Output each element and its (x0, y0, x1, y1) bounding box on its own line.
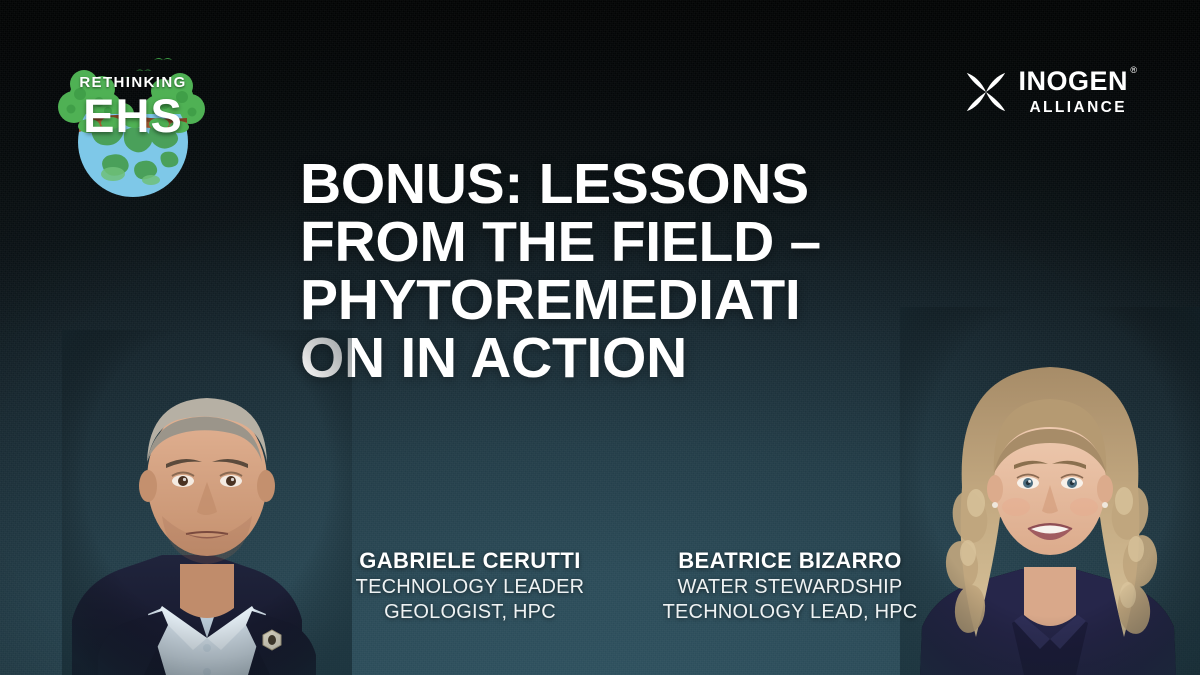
portrait-gabriele-cerutti (62, 330, 352, 675)
speaker-role-line-2: GEOLOGIST, HPC (330, 600, 610, 625)
speaker-role-line-1: TECHNOLOGY LEADER (330, 575, 610, 600)
title-line-1: BONUS: LESSONS (300, 155, 910, 213)
speaker-caption-left: GABRIELE CERUTTI TECHNOLOGY LEADER GEOLO… (330, 548, 610, 625)
rethinking-ehs-logo: RETHINKING EHS (58, 52, 208, 197)
portrait-beatrice-bizarro (900, 307, 1200, 675)
page-title: BONUS: LESSONS FROM THE FIELD – PHYTOREM… (300, 155, 910, 388)
logo-acronym: EHS (58, 92, 208, 139)
title-line-2: FROM THE FIELD – (300, 213, 910, 271)
speaker-name: BEATRICE BIZARRO (650, 548, 930, 575)
speaker-role-line-2: TECHNOLOGY LEAD, HPC (650, 600, 930, 625)
slide-canvas: RETHINKING EHS INOGEN ® ALLIANCE BONUS: … (0, 0, 1200, 675)
inogen-subtitle: ALLIANCE (1018, 100, 1128, 116)
speaker-caption-right: BEATRICE BIZARRO WATER STEWARDSHIP TECHN… (650, 548, 930, 625)
speaker-role-line-1: WATER STEWARDSHIP (650, 575, 930, 600)
registered-trademark-icon: ® (1130, 66, 1137, 75)
title-line-4: ON IN ACTION (300, 329, 910, 387)
inogen-alliance-logo: INOGEN ® ALLIANCE (963, 68, 1128, 116)
title-line-3: PHYTOREMEDIATI (300, 271, 910, 329)
speaker-name: GABRIELE CERUTTI (330, 548, 610, 575)
inogen-wordmark: INOGEN (1018, 68, 1128, 95)
inogen-petal-mark-icon (963, 69, 1009, 115)
